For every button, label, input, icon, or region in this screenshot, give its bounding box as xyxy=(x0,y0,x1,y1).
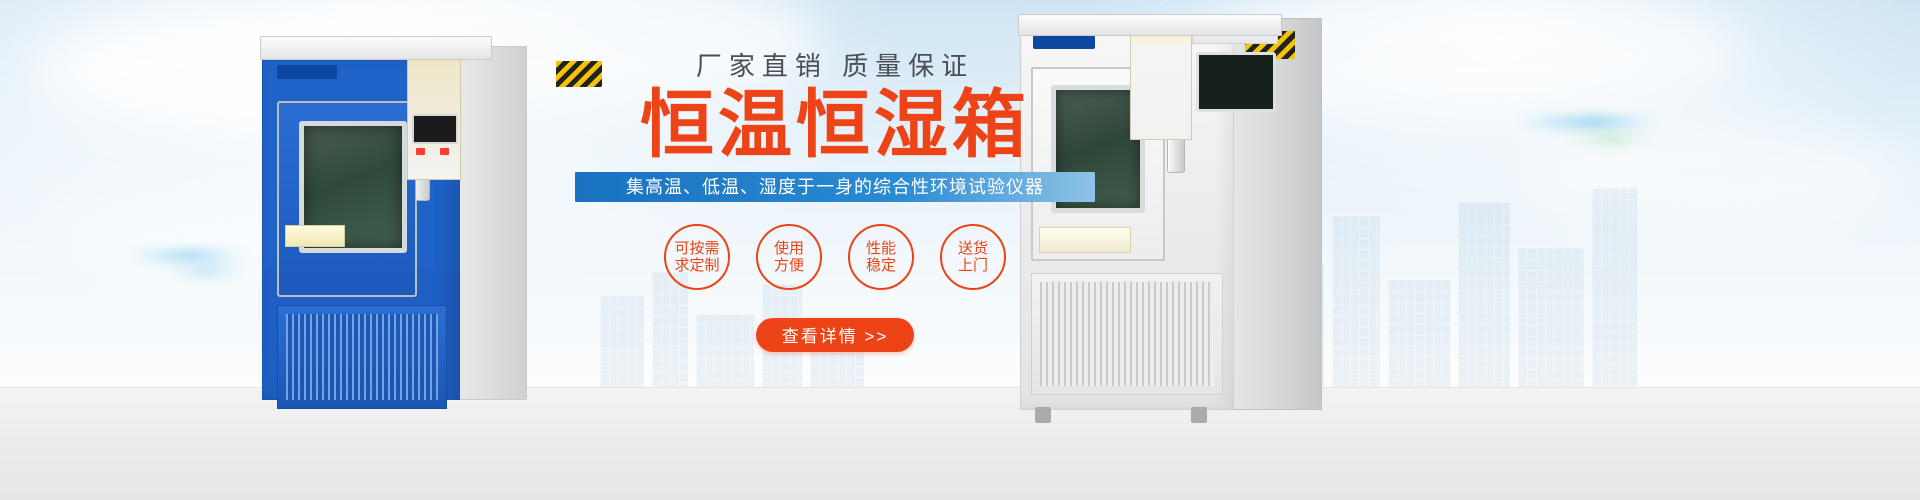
feature-badge-easy-use[interactable]: 使用 方便 xyxy=(756,224,822,290)
feature-badge-custom[interactable]: 可按需 求定制 xyxy=(664,224,730,290)
product-image-left-chamber xyxy=(262,36,524,404)
banner-subtitle: 集高温、低温、湿度于一身的综合性环境试验仪器 xyxy=(575,172,1095,202)
swoosh-decoration xyxy=(158,268,250,274)
brand-logo-plate xyxy=(1033,35,1095,49)
chamber-door xyxy=(277,101,417,297)
feature-badge-line2: 求定制 xyxy=(674,257,719,274)
chamber-foot xyxy=(1191,407,1207,423)
feature-badge-stable[interactable]: 性能 稳定 xyxy=(848,224,914,290)
chamber-top-cap xyxy=(260,36,492,60)
banner-headline: 恒温恒湿箱 xyxy=(575,87,1095,164)
brand-logo-plate xyxy=(277,65,337,79)
feature-badge-line1: 送货 xyxy=(958,240,988,257)
feature-badge-line2: 稳定 xyxy=(866,257,896,274)
swoosh-decoration xyxy=(1512,118,1662,126)
promo-banner: 厂家直销 质量保证 恒温恒湿箱 集高温、低温、湿度于一身的综合性环境试验仪器 可… xyxy=(0,0,1920,500)
ventilation-grille xyxy=(286,314,438,400)
chamber-top-cap xyxy=(1018,14,1282,36)
control-display-screen xyxy=(1196,52,1276,112)
feature-badge-line1: 使用 xyxy=(774,240,804,257)
swoosh-decoration xyxy=(1560,136,1656,142)
indicator-led xyxy=(440,148,449,155)
view-details-button[interactable]: 查看详情 >> xyxy=(756,318,914,352)
chamber-foot xyxy=(1035,407,1051,423)
control-panel xyxy=(407,46,461,180)
indicator-led xyxy=(416,148,425,155)
banner-copy: 厂家直销 质量保证 恒温恒湿箱 集高温、低温、湿度于一身的综合性环境试验仪器 可… xyxy=(575,52,1095,352)
feature-badge-line2: 上门 xyxy=(958,257,988,274)
feature-badge-list: 可按需 求定制 使用 方便 性能 稳定 送货 上门 xyxy=(575,224,1095,290)
chamber-spec-label xyxy=(285,225,345,247)
banner-tagline: 厂家直销 质量保证 xyxy=(575,52,1095,81)
feature-badge-delivery[interactable]: 送货 上门 xyxy=(940,224,1006,290)
feature-badge-line1: 性能 xyxy=(866,240,896,257)
chamber-lower-compartment xyxy=(277,305,447,409)
swoosh-decoration xyxy=(120,252,250,259)
feature-badge-line2: 方便 xyxy=(774,257,804,274)
control-display-screen xyxy=(412,114,458,144)
feature-badge-line1: 可按需 xyxy=(674,240,719,257)
control-panel xyxy=(1130,20,1192,140)
chamber-side-panel xyxy=(454,46,527,400)
